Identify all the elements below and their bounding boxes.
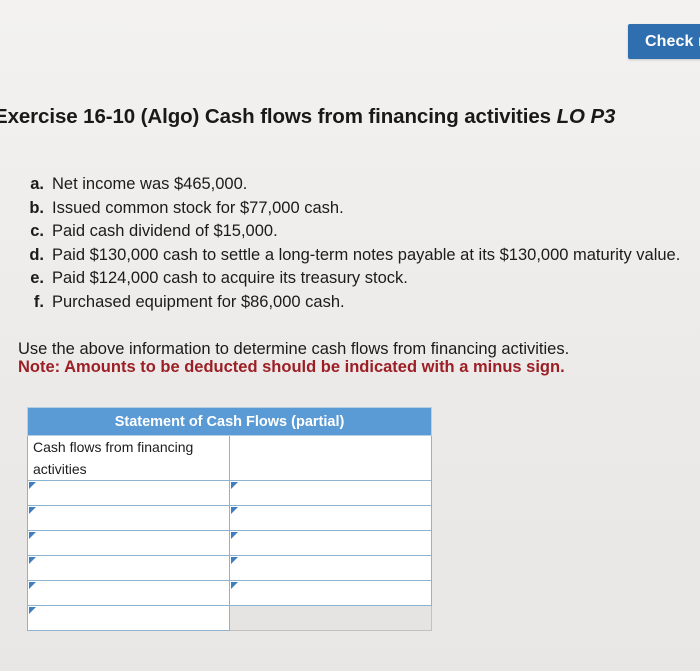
- table-cell-value: [230, 606, 432, 631]
- table-cell-label[interactable]: [28, 531, 230, 556]
- list-item: f. Purchased equipment for $86,000 cash.: [18, 291, 700, 315]
- exercise-items-list: a. Net income was $465,000. b. Issued co…: [18, 173, 700, 314]
- dropdown-marker-icon: [29, 482, 36, 489]
- list-item-text: Paid $130,000 cash to settle a long-term…: [52, 244, 700, 268]
- table-cell-value[interactable]: [230, 436, 432, 481]
- dropdown-marker-icon: [231, 532, 238, 539]
- table-row: [28, 531, 432, 556]
- dropdown-marker-icon: [231, 557, 238, 564]
- page-title-lo: LO P3: [557, 105, 616, 128]
- table-cell-label[interactable]: [28, 581, 230, 606]
- table-cell-label-text: Cash flows from financing activities: [33, 436, 229, 480]
- list-item: d. Paid $130,000 cash to settle a long-t…: [18, 244, 700, 268]
- page-title-main: Exercise 16-10 (Algo) Cash flows from fi…: [0, 105, 557, 128]
- dropdown-marker-icon: [29, 532, 36, 539]
- dropdown-marker-icon: [29, 557, 36, 564]
- list-item-label: f.: [18, 291, 52, 315]
- table-row: [28, 481, 432, 506]
- table-cell-value[interactable]: [230, 531, 432, 556]
- table-header: Statement of Cash Flows (partial): [28, 408, 432, 436]
- table-cell-label[interactable]: [28, 481, 230, 506]
- statement-of-cash-flows-table: Statement of Cash Flows (partial) Cash f…: [27, 407, 432, 631]
- list-item: e. Paid $124,000 cash to acquire its tre…: [18, 267, 700, 291]
- dropdown-marker-icon: [29, 607, 36, 614]
- list-item-text: Paid cash dividend of $15,000.: [52, 220, 700, 244]
- table-row: Cash flows from financing activities: [28, 436, 432, 481]
- table-cell-value[interactable]: [230, 581, 432, 606]
- table-row: [28, 581, 432, 606]
- list-item-label: c.: [18, 220, 52, 244]
- dropdown-marker-icon: [231, 507, 238, 514]
- table-cell-label[interactable]: Cash flows from financing activities: [28, 436, 230, 481]
- list-item-label: b.: [18, 197, 52, 221]
- table-cell-value[interactable]: [230, 481, 432, 506]
- check-my-work-label: Check my work: [645, 33, 700, 51]
- list-item: c. Paid cash dividend of $15,000.: [18, 220, 700, 244]
- table-row: [28, 506, 432, 531]
- table-cell-label[interactable]: [28, 606, 230, 631]
- dropdown-marker-icon: [29, 582, 36, 589]
- dropdown-marker-icon: [231, 582, 238, 589]
- check-my-work-button[interactable]: Check my work: [628, 24, 700, 59]
- table-cell-value[interactable]: [230, 506, 432, 531]
- list-item-label: a.: [18, 173, 52, 197]
- page-title: Exercise 16-10 (Algo) Cash flows from fi…: [0, 105, 700, 129]
- note-text: Note: Amounts to be deducted should be i…: [18, 358, 565, 377]
- page-background: Check my work Exercise 16-10 (Algo) Cash…: [0, 0, 700, 671]
- table-cell-label[interactable]: [28, 556, 230, 581]
- table-cell-label[interactable]: [28, 506, 230, 531]
- list-item: a. Net income was $465,000.: [18, 173, 700, 197]
- list-item-text: Net income was $465,000.: [52, 173, 700, 197]
- table-cell-value[interactable]: [230, 556, 432, 581]
- dropdown-marker-icon: [29, 507, 36, 514]
- list-item-text: Issued common stock for $77,000 cash.: [52, 197, 700, 221]
- dropdown-marker-icon: [231, 482, 238, 489]
- table-row: [28, 556, 432, 581]
- table-row: [28, 606, 432, 631]
- list-item-label: e.: [18, 267, 52, 291]
- list-item: b. Issued common stock for $77,000 cash.: [18, 197, 700, 221]
- list-item-label: d.: [18, 244, 52, 268]
- list-item-text: Paid $124,000 cash to acquire its treasu…: [52, 267, 700, 291]
- list-item-text: Purchased equipment for $86,000 cash.: [52, 291, 700, 315]
